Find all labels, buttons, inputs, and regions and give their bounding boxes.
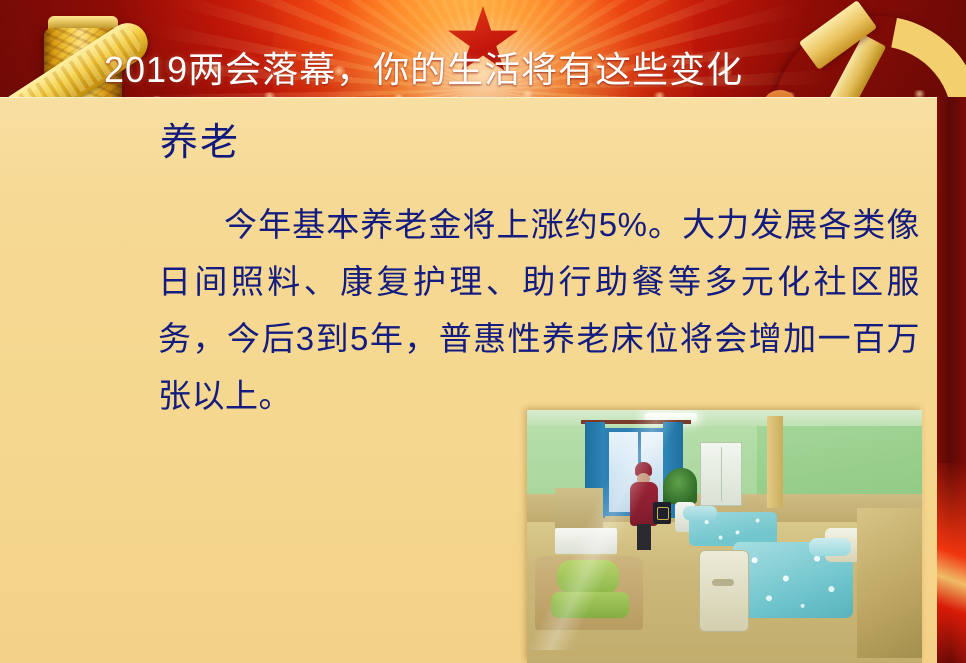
photo-bed-near (699, 528, 859, 638)
photo-wardrobe (857, 508, 922, 658)
photo-bed-near-pillow (809, 538, 851, 556)
page-title: 2019两会落幕，你的生活将有这些变化 (104, 52, 743, 88)
section-heading: 养老 (160, 124, 240, 162)
panel-right-edge (937, 97, 966, 663)
body-paragraph: 今年基本养老金将上涨约5%。大力发展各类像日间照料、康复护理、助行助餐等多元化社… (158, 196, 920, 424)
slide-canvas: 中华人民共和国万岁 世界人民大团结万岁 2019两会落幕，你的生活将有这些变化 … (0, 0, 966, 663)
photo-wood-pillar (767, 416, 783, 508)
nursing-home-photo (527, 410, 922, 663)
photo-glare (527, 410, 717, 650)
